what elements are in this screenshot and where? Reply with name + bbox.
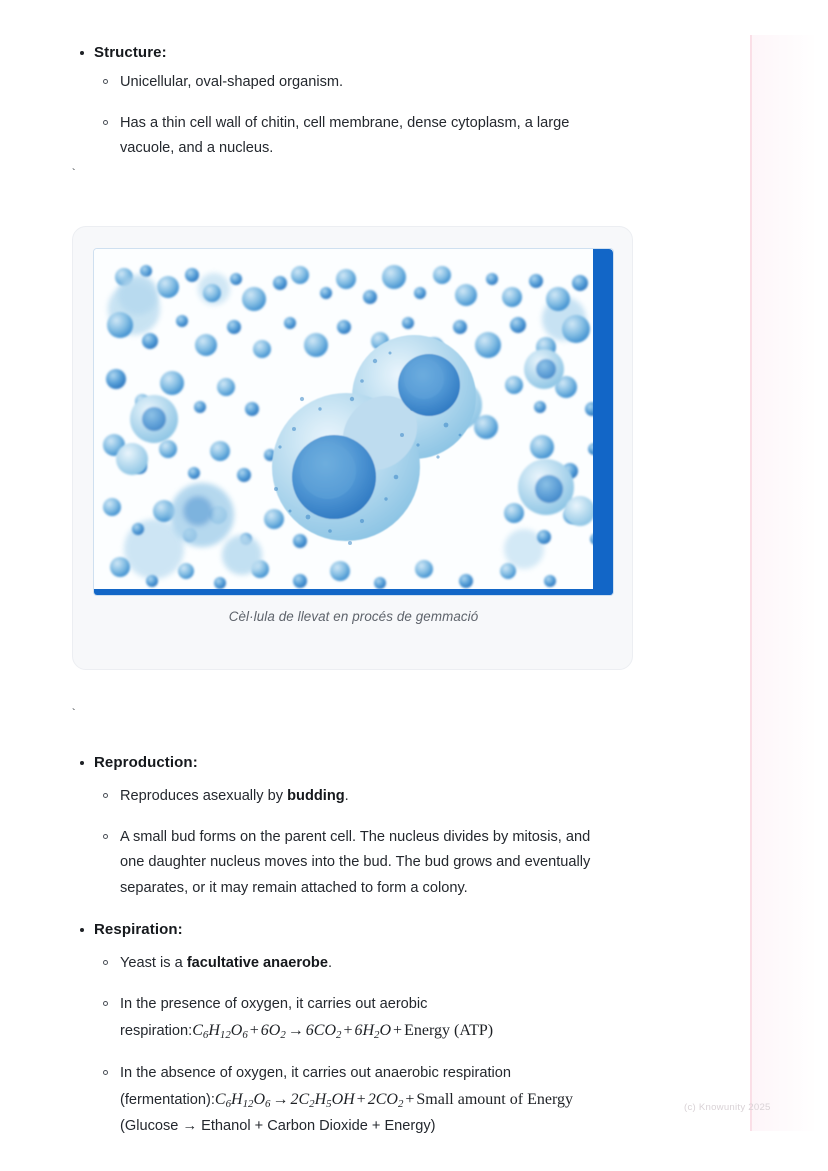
figure-accent-bar-bottom (94, 589, 613, 595)
list-item-reproduction: Reproduction: Reproduces asexually by bu… (72, 753, 632, 901)
list-item: A small bud forms on the parent cell. Th… (94, 825, 616, 900)
list-item: Yeast is a facultative anaerobe. (94, 951, 632, 976)
emphasis-budding: budding (287, 788, 345, 804)
bullet-list-level1: Respiration: Yeast is a facultative anae… (72, 920, 632, 1139)
bullet-list-level1: Structure: Unicellular, oval-shaped orga… (72, 43, 632, 162)
section-title-respiration: Respiration: (94, 921, 183, 938)
bullet-circle-icon (103, 79, 108, 84)
stray-backtick-mark: ` (70, 708, 77, 720)
list-item-text: A small bud forms on the parent cell. Th… (120, 829, 590, 895)
figure-caption: Cèl·lula de llevat en procés de gemmació (73, 609, 634, 624)
anaerobic-respiration-words: (Glucose → Ethanol + Carbon Dioxide + En… (120, 1118, 436, 1134)
bullet-list-level2: Unicellular, oval-shaped organism. Has a… (94, 70, 632, 161)
bullet-circle-icon (103, 120, 108, 125)
list-item-prefix: Reproduces asexually by (120, 788, 287, 804)
figure-card: Cèl·lula de llevat en procés de gemmació (72, 226, 633, 670)
section-title-reproduction: Reproduction: (94, 754, 198, 771)
anaerobic-respiration-formula: C6H12O6→2C2H5OH+2CO2+Small amount of Ene… (215, 1091, 573, 1108)
figure-accent-bar-right (593, 249, 613, 595)
list-item: Reproduces asexually by budding. (94, 784, 632, 809)
bullet-circle-icon (103, 834, 108, 839)
list-item: In the absence of oxygen, it carries out… (94, 1061, 646, 1139)
bullet-list-level2: Yeast is a facultative anaerobe. In the … (94, 951, 632, 1138)
stray-backtick-mark: ` (70, 168, 77, 180)
emphasis-facultative-anaerobe: facultative anaerobe (187, 955, 328, 971)
list-item-suffix: . (345, 788, 349, 804)
page-edge-wash (752, 35, 814, 1131)
list-item-text: Unicellular, oval-shaped organism. (120, 74, 343, 90)
section-structure: Structure: Unicellular, oval-shaped orga… (72, 43, 632, 162)
page-margin-rule (750, 35, 752, 1131)
copyright-watermark: (c) Knowunity 2025 (684, 1102, 771, 1113)
list-item: Has a thin cell wall of chitin, cell mem… (94, 111, 622, 161)
section-respiration: Respiration: Yeast is a facultative anae… (72, 920, 632, 1139)
aerobic-respiration-formula: C6H12O6+6O2→6CO2+6H2O+Energy (ATP) (192, 1022, 493, 1039)
bullet-disc-icon (80, 761, 84, 765)
bullet-circle-icon (103, 793, 108, 798)
list-item-text: Has a thin cell wall of chitin, cell mem… (120, 115, 569, 156)
list-item: Unicellular, oval-shaped organism. (94, 70, 632, 95)
list-item-prefix: Yeast is a (120, 955, 187, 971)
bullet-list-level2: Reproduces asexually by budding. A small… (94, 784, 632, 900)
yeast-microscopy-image (94, 249, 613, 595)
bullet-disc-icon (80, 51, 84, 55)
bullet-list-level1: Reproduction: Reproduces asexually by bu… (72, 753, 632, 901)
bullet-disc-icon (80, 928, 84, 932)
list-item-respiration: Respiration: Yeast is a facultative anae… (72, 920, 632, 1139)
figure-image-frame (94, 249, 613, 595)
section-title-structure: Structure: (94, 44, 167, 61)
document-page: Structure: Unicellular, oval-shaped orga… (0, 0, 828, 1171)
section-reproduction: Reproduction: Reproduces asexually by bu… (72, 753, 632, 901)
list-item-suffix: . (328, 955, 332, 971)
list-item-structure: Structure: Unicellular, oval-shaped orga… (72, 43, 632, 162)
bullet-circle-icon (103, 1070, 108, 1075)
list-item: In the presence of oxygen, it carries ou… (94, 992, 642, 1045)
bullet-circle-icon (103, 960, 108, 965)
bullet-circle-icon (103, 1001, 108, 1006)
